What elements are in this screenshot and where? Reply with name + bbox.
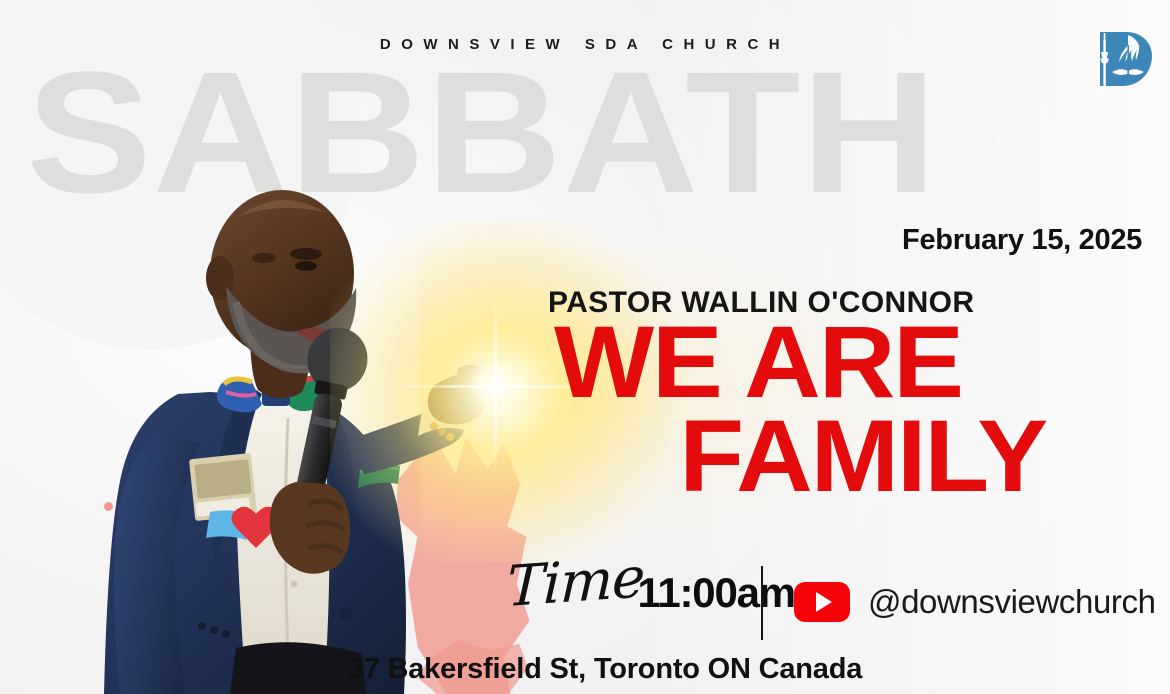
sabbath-service-flyer: SABBATH DOWNSVIEW SDA CHURCH (0, 0, 1170, 694)
headline-line-1: WE ARE (554, 318, 1066, 408)
time-label: Time (506, 550, 645, 618)
sda-downsview-logo-icon (1082, 28, 1156, 102)
church-name-kicker: DOWNSVIEW SDA CHURCH (0, 36, 1170, 53)
vertical-divider (761, 566, 763, 640)
venue-address: 37 Bakersfield St, Toronto ON Canada (0, 653, 1170, 686)
play-triangle (816, 592, 832, 612)
sabbath-watermark: SABBATH (26, 56, 1170, 208)
time-value: 11:00am (638, 572, 795, 618)
youtube-play-icon[interactable] (794, 582, 850, 622)
service-time: Time 11:00am (506, 560, 795, 618)
headline-line-2: FAMILY (484, 412, 1046, 502)
event-date: February 15, 2025 (902, 224, 1142, 257)
youtube-handle[interactable]: @downsviewchurch (868, 583, 1156, 621)
headline: WE ARE FAMILY (506, 318, 1046, 502)
youtube-link[interactable]: @downsviewchurch (794, 582, 1156, 622)
